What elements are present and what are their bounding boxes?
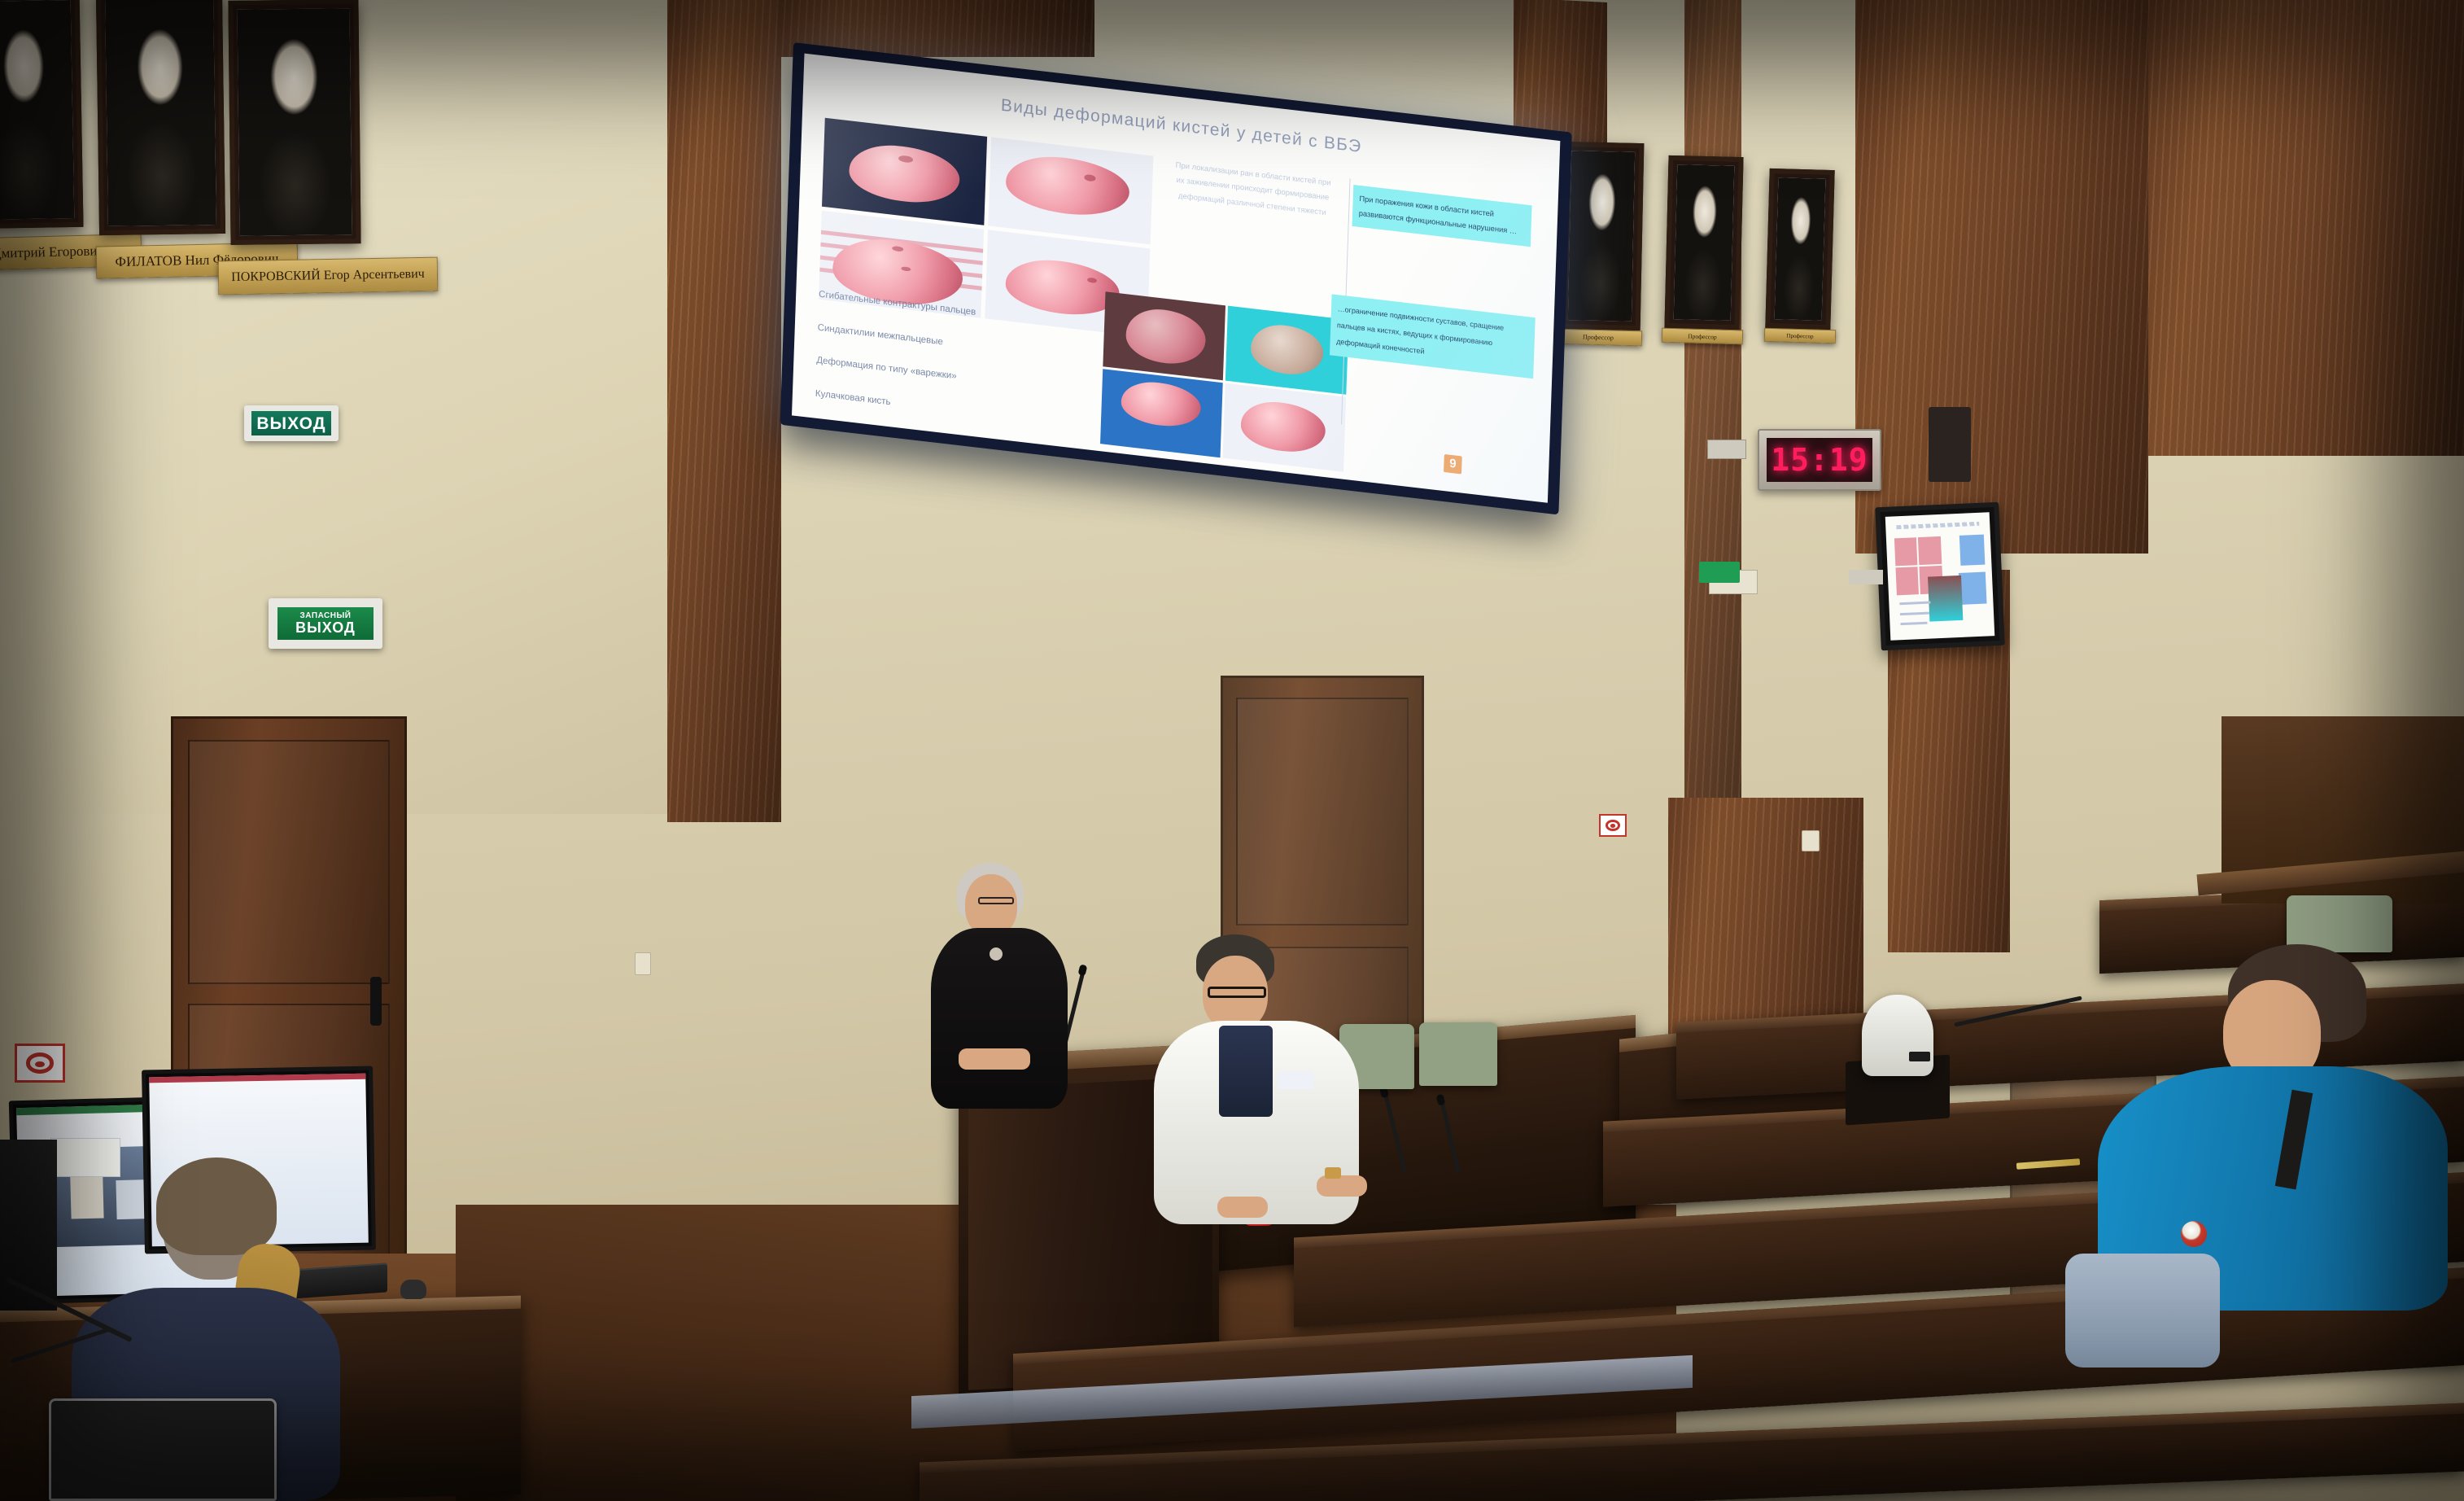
portrait-plaque-5: Профессор [1662,328,1743,345]
slide-middle-paragraph: При локализации ран в области кистей при… [1173,158,1332,221]
portrait-photo-1 [0,0,74,220]
wall-repeater-monitor[interactable] [1875,502,2005,650]
chairman-shirt [1219,1026,1273,1117]
wood-column-left [667,0,781,822]
clock-mount-bracket [1707,440,1746,459]
speaker-box-wall [1929,407,1971,482]
portrait-photo-2 [105,0,216,226]
chairman-badge [1278,1071,1313,1089]
audience-jeans [2065,1254,2220,1368]
speaker-at-lectern [936,863,1082,1107]
portrait-plaque-3: ПОКРОВСКИЙ Егор Арсентьевич [218,257,439,295]
portrait-frame-3 [228,0,360,245]
audience-sleeve-patch [2181,1221,2207,1247]
mouse[interactable] [400,1280,426,1299]
portrait-frame-4 [1559,142,1645,330]
camera-lens-slot [1909,1052,1930,1061]
chair-presidium-2[interactable] [1419,1022,1497,1086]
speaker-hands [959,1048,1030,1070]
slide-photo-8 [1223,383,1346,472]
speaker-head [965,874,1017,936]
portrait-photo-5 [1674,164,1735,321]
portrait-frame-6 [1765,168,1834,330]
operator-hair [156,1157,277,1255]
chairman-glasses [1208,987,1266,998]
clock-time-display: 15:19 [1767,438,1872,481]
slide-photo-1 [822,117,987,225]
portrait-photo-4 [1568,151,1635,322]
door-handle-left[interactable] [370,977,382,1026]
exit-sign-spare-label: ВЫХОД [295,620,356,635]
wood-strip-center [1684,0,1741,798]
wall-socket-3[interactable] [1802,830,1820,851]
slide-callout-2: …ограничение подвижности суставов, сраще… [1330,294,1536,379]
wall-socket-1[interactable] [635,952,651,975]
portrait-frame-5 [1664,155,1743,330]
chairman-hand-right [1317,1175,1367,1197]
portrait-photo-3 [238,8,352,235]
slide-photo-2 [988,137,1153,244]
chairman-hand-left [1217,1197,1268,1218]
audience-member [2106,944,2464,1368]
lecture-hall-photo: Дмитрий Егорович ФИЛАТОВ Нил Фёдорович П… [0,0,2464,1501]
speaker-glasses [978,897,1014,904]
wood-panel-far-right [2148,0,2464,456]
repeater-screen [1885,512,1995,640]
operator-chair[interactable] [49,1398,277,1501]
speaker-necklace [990,947,1003,961]
digital-wall-clock: 15:19 [1758,429,1881,491]
chairman-seated [1165,934,1369,1211]
first-aid-sign [1699,562,1740,583]
slide-callout-1: При поражения кожи в области кистей разв… [1352,185,1531,247]
portrait-frame-2 [96,0,225,235]
portrait-plaque-4: Профессор [1554,329,1642,347]
exit-sign-main-label: ВЫХОД [256,415,325,432]
exit-sign-main: ВЫХОД [244,405,339,441]
fire-alarm-icon-right [1599,814,1627,837]
portrait-plaque-6: Профессор [1764,328,1836,344]
ptz-camera [1862,995,1933,1076]
exit-sign-spare: ЗАПАСНЫЙ ВЫХОД [269,598,382,649]
slide-number-badge: 9 [1444,454,1462,475]
portrait-photo-6 [1775,177,1826,321]
monitor-wall-mount [1849,570,1883,584]
pc-tower [0,1140,57,1311]
portrait-frame-1 [0,0,84,229]
chairman-wristwatch [1325,1167,1341,1179]
fire-alarm-icon-left [15,1044,65,1083]
wood-panel-upper-right [1855,0,2148,554]
